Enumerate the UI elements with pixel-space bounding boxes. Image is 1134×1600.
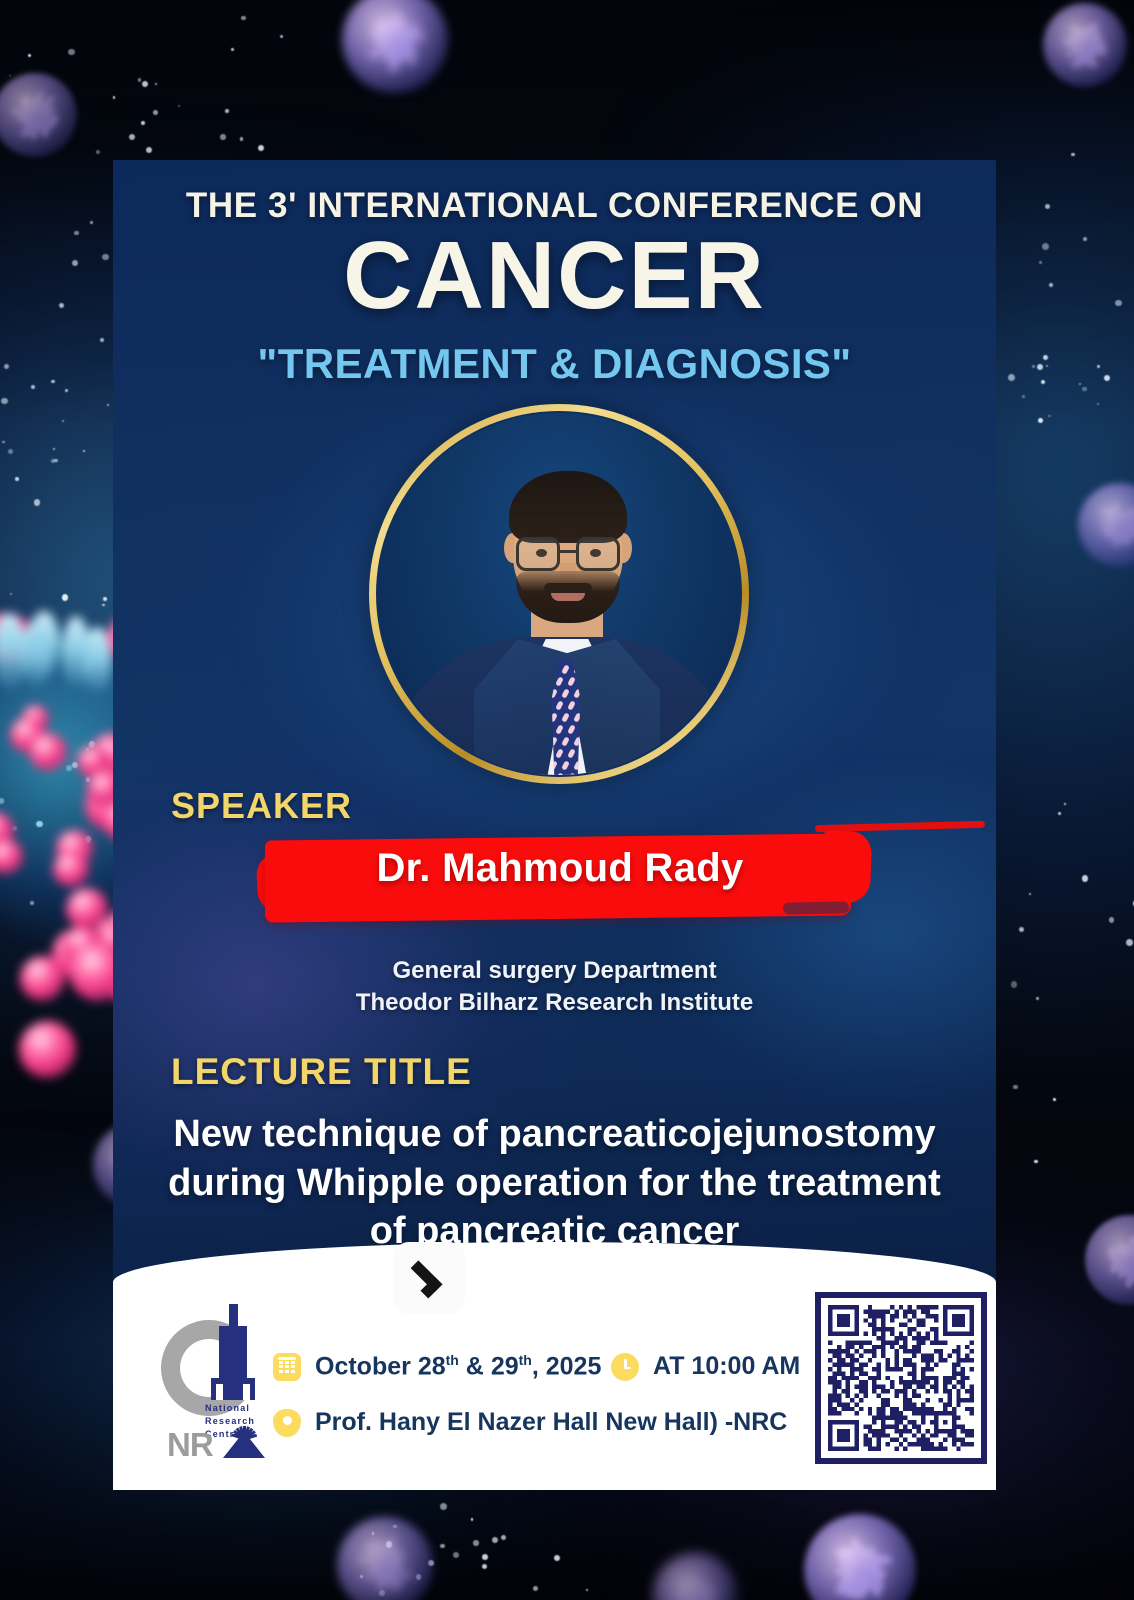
event-time-row: AT 10:00 AM (611, 1352, 800, 1381)
event-date-row: October 28th & 29th, 2025 (273, 1352, 601, 1381)
clock-icon (611, 1353, 639, 1381)
location-pin-icon (273, 1409, 301, 1437)
affiliation-line-1: General surgery Department (392, 957, 716, 984)
calendar-icon (273, 1353, 301, 1381)
event-venue-row: Prof. Hany El Nazer Hall New Hall) -NRC (273, 1408, 787, 1437)
chevron-right-icon[interactable] (393, 1242, 465, 1314)
speaker-portrait (369, 404, 749, 784)
register-now-label: REGISTER NOW (470, 1262, 697, 1294)
qr-code[interactable] (815, 1292, 987, 1464)
event-time: AT 10:00 AM (653, 1352, 800, 1381)
conference-poster: THE 3' INTERNATIONAL CONFERENCE ON CANCE… (113, 160, 996, 1490)
portrait-photo (378, 413, 740, 775)
page-title: CANCER (113, 228, 996, 324)
qr-code-canvas (828, 1305, 974, 1451)
lecture-title-label: LECTURE TITLE (171, 1051, 472, 1093)
speaker-label: SPEAKER (171, 785, 352, 827)
event-date: October 28th & 29th, 2025 (315, 1352, 601, 1381)
conference-eyebrow: THE 3' INTERNATIONAL CONFERENCE ON (113, 186, 996, 226)
national-research-centre-logo: National Research Centre NR (161, 1298, 279, 1458)
event-venue: Prof. Hany El Nazer Hall New Hall) -NRC (315, 1408, 787, 1437)
speaker-name: Dr. Mahmoud Rady (255, 846, 865, 891)
affiliation-line-2: Theodor Bilharz Research Institute (356, 989, 753, 1016)
logo-line-1: National (205, 1402, 281, 1415)
speaker-affiliation: General surgery Department Theodor Bilha… (113, 955, 996, 1020)
conference-subtitle: "TREATMENT & DIAGNOSIS" (113, 340, 996, 388)
logo-mark-text: NR (167, 1426, 213, 1464)
lecture-title: New technique of pancreaticojejunostomy … (147, 1110, 962, 1256)
